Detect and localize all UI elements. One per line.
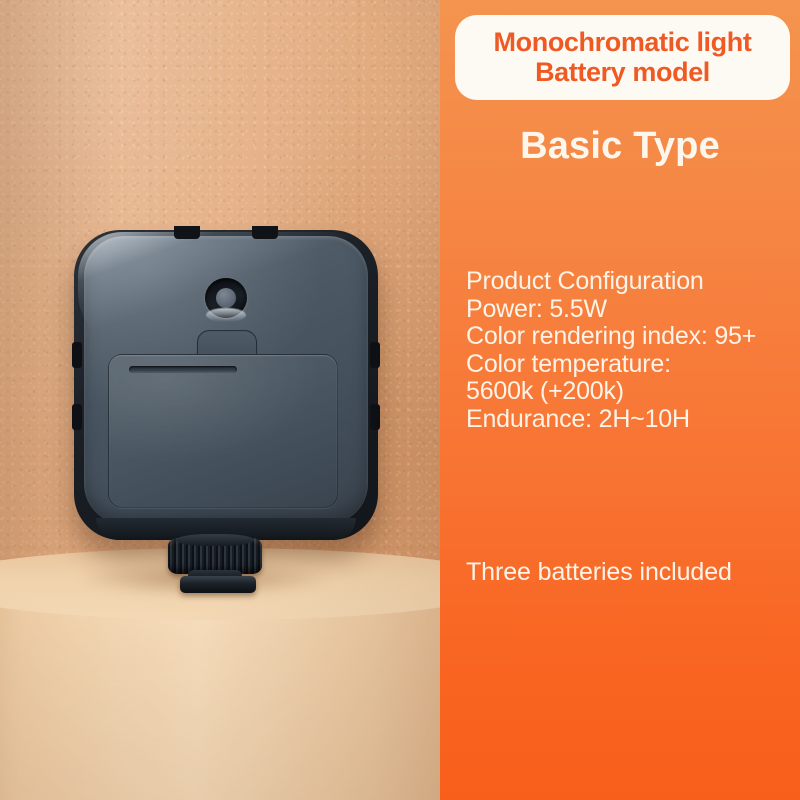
product-image: Monochromatic light Battery model Basic … xyxy=(0,0,800,800)
battery-compartment-door xyxy=(108,354,338,508)
headline-badge: Monochromatic light Battery model xyxy=(455,15,790,100)
headline-line-1: Monochromatic light xyxy=(494,28,752,57)
info-panel: Monochromatic light Battery model Basic … xyxy=(440,0,800,800)
spec-line: Color rendering index: 95+ xyxy=(466,323,796,351)
spec-line: Product Configuration xyxy=(466,268,796,296)
product-photo-panel xyxy=(0,0,440,800)
side-clip-left-lower xyxy=(72,404,82,430)
headline-line-2: Battery model xyxy=(535,58,710,87)
side-clip-right-upper xyxy=(370,342,380,368)
spec-line: Endurance: 2H~10H xyxy=(466,406,796,434)
subtitle-basic-type: Basic Type xyxy=(440,125,800,168)
cold-shoe-plate xyxy=(180,576,256,593)
top-notch-right xyxy=(252,226,278,239)
top-notch-left xyxy=(174,226,200,239)
door-pull-groove xyxy=(129,366,237,373)
socket-gleam xyxy=(206,308,246,322)
knob-top-cap xyxy=(176,534,254,546)
spec-line: Color temperature: xyxy=(466,351,796,379)
side-clip-left-upper xyxy=(72,342,82,368)
spec-line: 5600k (+200k) xyxy=(466,378,796,406)
spec-line: Power: 5.5W xyxy=(466,296,796,324)
batteries-included-note: Three batteries included xyxy=(466,558,796,587)
spec-list: Product Configuration Power: 5.5W Color … xyxy=(466,268,796,433)
mount-assembly xyxy=(160,532,280,596)
side-clip-right-lower xyxy=(370,404,380,430)
led-video-light xyxy=(66,226,386,546)
